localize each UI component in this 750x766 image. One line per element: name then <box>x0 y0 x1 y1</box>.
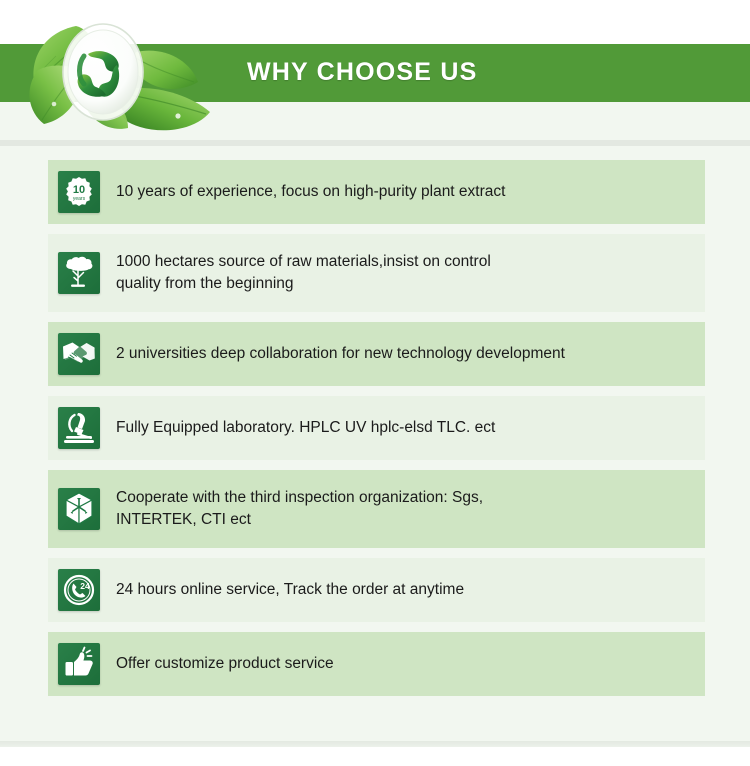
thumbs-up-icon <box>58 643 100 685</box>
feature-row: Offer customize product service <box>48 632 705 696</box>
feature-row: 10 years 10 years of experience, focus o… <box>48 160 705 224</box>
bottom-white-strip <box>0 747 750 766</box>
tree-icon <box>58 252 100 294</box>
svg-text:years: years <box>73 196 86 202</box>
cube-box-icon <box>58 488 100 530</box>
feature-text: Offer customize product service <box>116 653 705 675</box>
svg-text:10: 10 <box>73 184 85 196</box>
feature-text: Fully Equipped laboratory. HPLC UV hplc-… <box>116 417 705 439</box>
feature-row: 1000 hectares source of raw materials,in… <box>48 234 705 312</box>
feature-row: 24 24 hours online service, Track the or… <box>48 558 705 622</box>
handshake-icon <box>58 333 100 375</box>
feature-text: 1000 hectares source of raw materials,in… <box>116 251 705 296</box>
logo-emblem <box>63 24 143 120</box>
feature-row: 2 universities deep collaboration for ne… <box>48 322 705 386</box>
why-choose-us-banner: WHY CHOOSE US <box>0 0 750 766</box>
feature-row: Cooperate with the third inspection orga… <box>48 470 705 548</box>
feature-row: Fully Equipped laboratory. HPLC UV hplc-… <box>48 396 705 460</box>
feature-text: 10 years of experience, focus on high-pu… <box>116 181 705 203</box>
badge-10-years-icon: 10 years <box>58 171 100 213</box>
feature-text: Cooperate with the third inspection orga… <box>116 487 705 532</box>
feature-list: 10 years 10 years of experience, focus o… <box>48 160 705 706</box>
header-band-shadow <box>0 140 750 146</box>
company-leaf-logo <box>18 8 233 136</box>
feature-text: 2 universities deep collaboration for ne… <box>116 343 705 365</box>
page-title: WHY CHOOSE US <box>247 58 477 87</box>
microscope-icon <box>58 407 100 449</box>
phone-24h-icon: 24 <box>58 569 100 611</box>
feature-text: 24 hours online service, Track the order… <box>116 579 705 601</box>
svg-text:24: 24 <box>80 581 90 591</box>
